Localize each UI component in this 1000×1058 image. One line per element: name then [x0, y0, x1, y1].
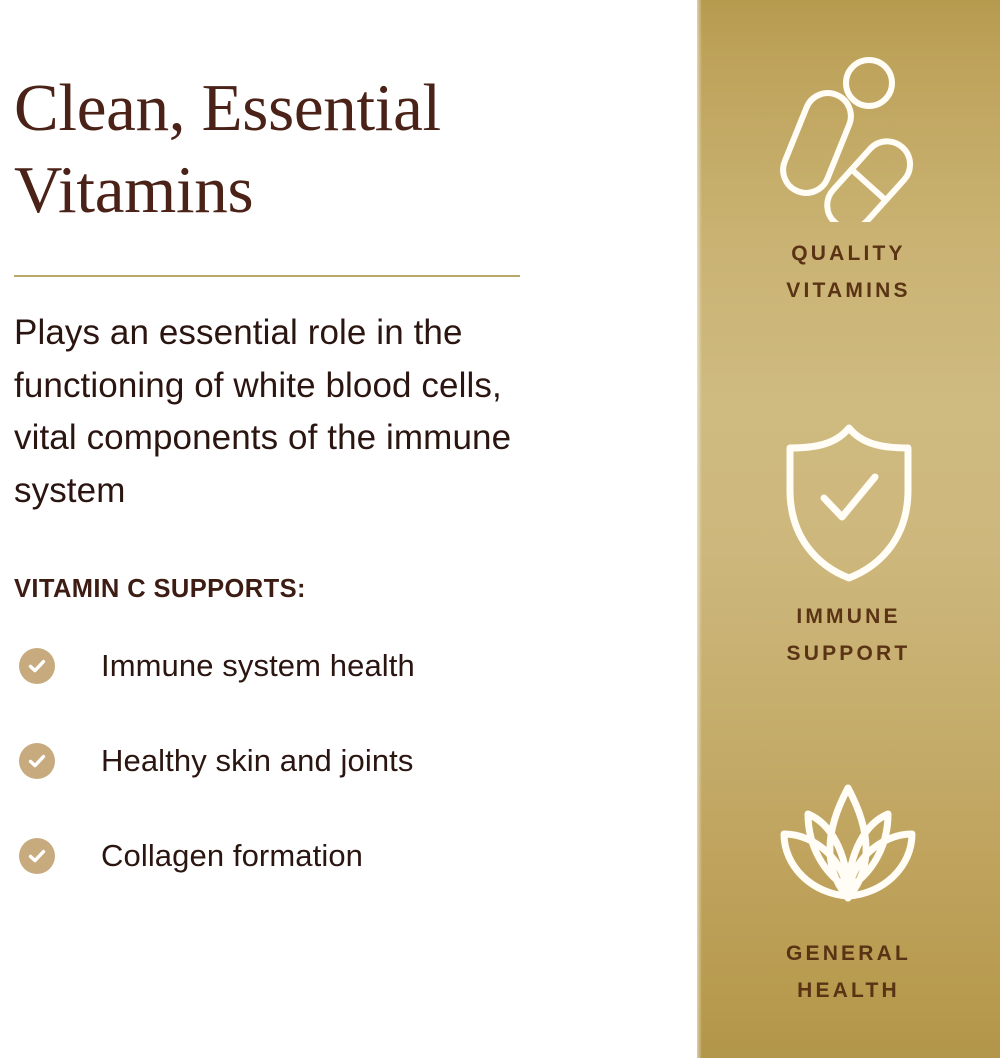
shield-check-icon	[774, 415, 924, 590]
badge-label-line1: QUALITY	[791, 242, 906, 265]
badge-general-health: GENERAL HEALTH	[697, 752, 1000, 1010]
check-icon	[19, 648, 55, 684]
list-item-label: Immune system health	[101, 648, 415, 684]
benefits-list: Immune system health Healthy skin and jo…	[14, 604, 697, 880]
lotus-flower-icon	[766, 752, 931, 927]
check-icon	[19, 743, 55, 779]
badge-label-line2: HEALTH	[797, 979, 900, 1002]
badge-label-line2: SUPPORT	[787, 642, 911, 665]
list-item-label: Healthy skin and joints	[101, 743, 413, 779]
badge-label: GENERAL HEALTH	[786, 935, 911, 1010]
badge-label-line1: GENERAL	[786, 942, 911, 965]
description-text: Plays an essential role in the functioni…	[14, 277, 574, 517]
benefits-sidebar: QUALITY VITAMINS IMMUNE SUPPORT	[697, 0, 1000, 1058]
badge-label: QUALITY VITAMINS	[786, 235, 910, 310]
list-item: Healthy skin and joints	[14, 737, 697, 785]
page-title: Clean, Essential Vitamins	[14, 0, 614, 231]
badge-label: IMMUNE SUPPORT	[787, 598, 911, 673]
list-item: Collagen formation	[14, 832, 697, 880]
list-item-label: Collagen formation	[101, 838, 363, 874]
pills-icon	[769, 52, 929, 227]
check-icon	[19, 838, 55, 874]
left-content-column: Clean, Essential Vitamins Plays an essen…	[0, 0, 697, 1058]
badge-immune-support: IMMUNE SUPPORT	[697, 415, 1000, 673]
badge-label-line2: VITAMINS	[786, 279, 910, 302]
badge-label-line1: IMMUNE	[796, 605, 900, 628]
product-info-panel: Clean, Essential Vitamins Plays an essen…	[0, 0, 1000, 1058]
supports-heading: VITAMIN C SUPPORTS:	[14, 517, 697, 604]
list-item: Immune system health	[14, 642, 697, 690]
badge-quality-vitamins: QUALITY VITAMINS	[697, 52, 1000, 310]
